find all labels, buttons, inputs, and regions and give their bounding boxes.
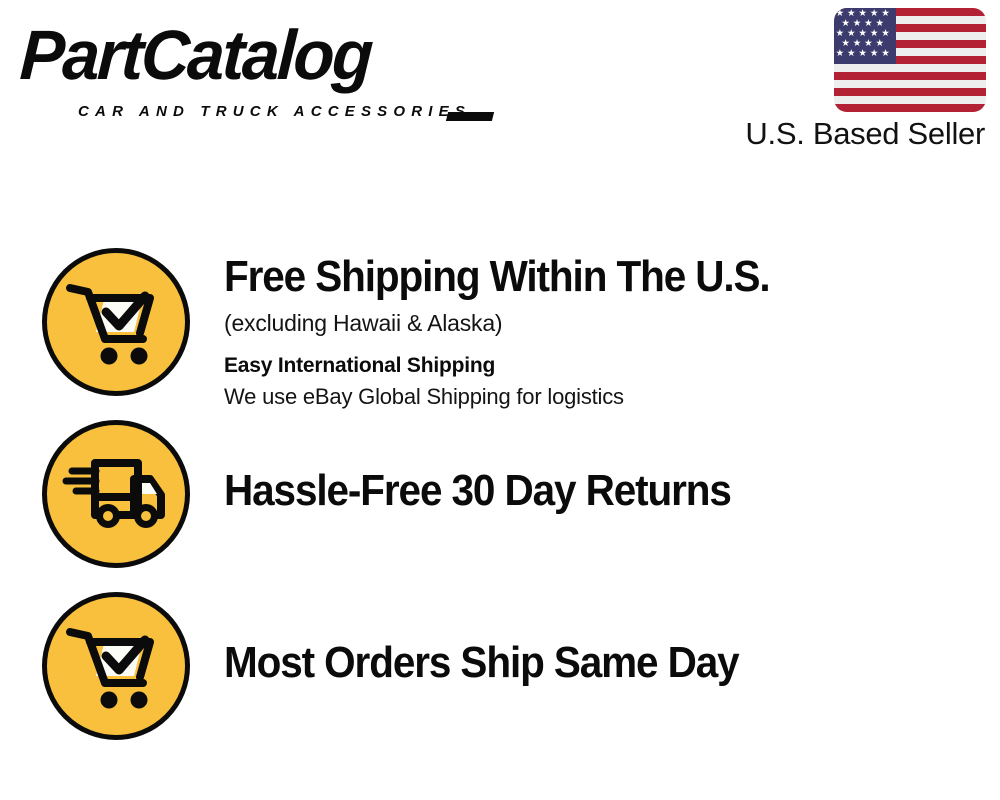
- feature-title: Free Shipping Within The U.S.: [224, 252, 938, 302]
- flag-stripe: [834, 88, 986, 96]
- feature-subtitle: (excluding Hawaii & Alaska): [224, 306, 1000, 340]
- flag-star: ★: [869, 49, 879, 59]
- us-flag-icon: ★★★★★★★★★★★★★★★★★★★★★★★: [834, 8, 986, 112]
- flag-stripe: [834, 64, 986, 72]
- feature-row: Hassle-Free 30 Day Returns: [0, 420, 1000, 568]
- promo-banner: PartCatalog CAR AND TRUCK ACCESSORIES ★★…: [0, 0, 1000, 800]
- brand-logo: PartCatalog CAR AND TRUCK ACCESSORIES: [22, 20, 492, 120]
- flag-stripe: [834, 104, 986, 112]
- flag-star: ★: [846, 49, 856, 59]
- us-based-seller-badge: ★★★★★★★★★★★★★★★★★★★★★★★ U.S. Based Selle…: [686, 8, 986, 152]
- feature-row: Free Shipping Within The U.S. (excluding…: [0, 248, 1000, 413]
- flag-star: ★: [835, 49, 845, 59]
- flag-canton: ★★★★★★★★★★★★★★★★★★★★★★★: [834, 8, 896, 64]
- feature-sub-note: We use eBay Global Shipping for logistic…: [224, 381, 1000, 413]
- feature-title: Hassle-Free 30 Day Returns: [224, 466, 938, 516]
- flag-stripe: [834, 96, 986, 104]
- brand-wordmark: PartCatalog: [18, 20, 473, 90]
- feature-sub-heading: Easy International Shipping: [224, 350, 1000, 381]
- flag-star: ★: [858, 49, 868, 59]
- flag-stripe: [834, 80, 986, 88]
- shopping-cart-check-icon: [42, 248, 190, 396]
- feature-text: Most Orders Ship Same Day: [224, 592, 1000, 688]
- flag-stripe: [834, 72, 986, 80]
- flag-star: ★: [880, 49, 890, 59]
- delivery-truck-icon: [42, 420, 190, 568]
- logo-swash-decoration: [446, 112, 494, 121]
- feature-text: Hassle-Free 30 Day Returns: [224, 420, 1000, 516]
- brand-tagline: CAR AND TRUCK ACCESSORIES: [78, 103, 471, 120]
- shopping-cart-check-icon: [42, 592, 190, 740]
- feature-row: Most Orders Ship Same Day: [0, 592, 1000, 740]
- feature-text: Free Shipping Within The U.S. (excluding…: [224, 248, 1000, 413]
- us-based-seller-label: U.S. Based Seller: [686, 116, 986, 152]
- feature-title: Most Orders Ship Same Day: [224, 638, 938, 688]
